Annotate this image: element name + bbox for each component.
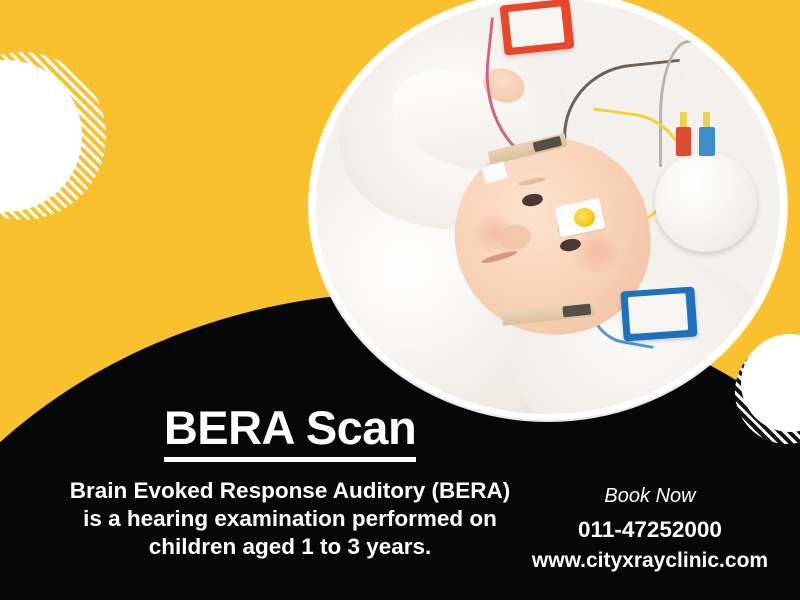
blue-recording-module (621, 287, 699, 342)
plug-red (676, 127, 692, 156)
red-recording-module (499, 0, 573, 56)
phone-number[interactable]: 011-47252000 (512, 515, 788, 544)
plug-blue (699, 127, 715, 156)
blue-module-label (628, 294, 688, 335)
red-module-label (508, 6, 564, 47)
website-url[interactable]: www.cityxrayclinic.com (512, 547, 788, 574)
book-now-label[interactable]: Book Now (512, 483, 788, 509)
description-text: Brain Evoked Response Auditory (BERA) is… (62, 477, 518, 561)
maico-device (655, 152, 757, 252)
forehead-electrode-connector (574, 208, 595, 227)
baby-cheek-right (571, 231, 622, 273)
title-container: BERA Scan (60, 404, 520, 462)
bera-test-photo (316, 0, 780, 414)
contact-block: Book Now 011-47252000 www.cityxrayclinic… (512, 483, 788, 575)
poster: BERA Scan Brain Evoked Response Auditory… (0, 0, 800, 600)
page-title: BERA Scan (164, 404, 416, 462)
